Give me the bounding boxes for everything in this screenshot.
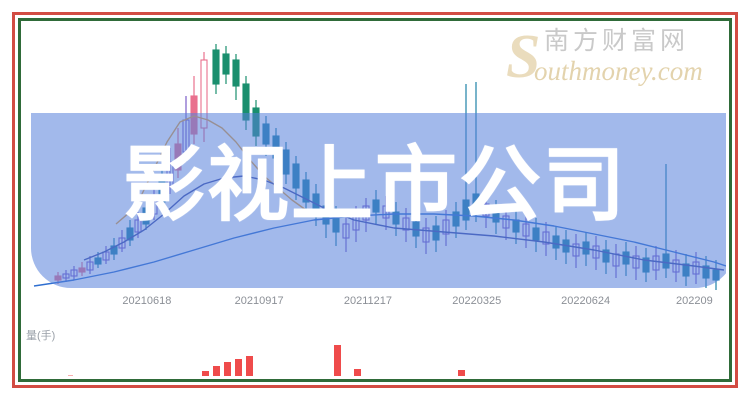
stock-chart: 影视上市公司 202106182021091720211217202203252…	[24, 24, 726, 376]
screenshot-root: 影视上市公司 202106182021091720211217202203252…	[0, 0, 750, 400]
price-pane	[24, 24, 726, 292]
x-tick-label: 202209	[676, 295, 713, 307]
x-tick-label: 20220325	[452, 295, 501, 307]
x-axis-ticks: 2021061820210917202112172022032520220624…	[24, 295, 726, 317]
volume-bar	[458, 370, 465, 376]
candlestick-svg	[24, 24, 726, 292]
volume-bar	[202, 371, 209, 376]
x-tick-label: 20211217	[344, 295, 392, 307]
volume-bar	[246, 356, 253, 376]
volume-pane	[24, 340, 726, 376]
volume-bar	[224, 362, 231, 376]
volume-bar	[68, 375, 73, 376]
x-tick-label: 20220624	[561, 295, 610, 307]
volume-bar	[213, 366, 220, 376]
volume-bar	[235, 359, 242, 376]
x-tick-label: 20210917	[235, 295, 284, 307]
x-tick-label: 20210618	[122, 295, 171, 307]
volume-bar	[354, 369, 361, 376]
volume-bar	[334, 345, 341, 376]
